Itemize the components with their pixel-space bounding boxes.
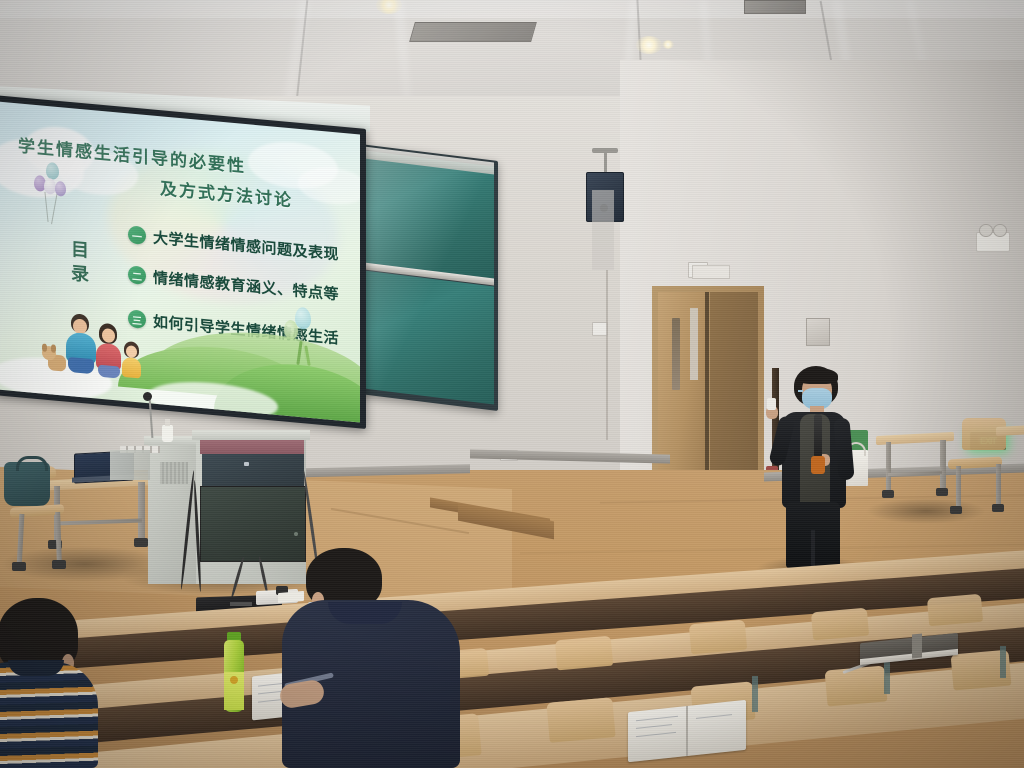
desk-caster — [134, 538, 148, 547]
podium-indicator — [244, 462, 249, 466]
ceiling-panel — [0, 0, 1024, 18]
far-right-desk-top — [996, 425, 1024, 436]
chair-caster — [992, 504, 1004, 512]
presentation-slide: 学生情感生活引导的必要性 及方式方法讨论 目 录 一 大学生情绪情感问题及表现 … — [0, 102, 360, 423]
door-sign — [692, 265, 730, 279]
bench-chair-back[interactable] — [546, 697, 615, 743]
bench-chair-leg — [752, 676, 758, 712]
equipment-case-label — [230, 602, 252, 606]
mask-strap — [798, 390, 803, 392]
slide-figure-child — [122, 341, 142, 383]
emergency-light-head — [979, 224, 993, 237]
slide-figure-adult — [66, 313, 96, 376]
student-collar — [328, 602, 402, 624]
microphone-badge — [811, 456, 825, 474]
toc-label-char1: 目 — [70, 240, 90, 261]
presenter-hair-front — [798, 368, 838, 384]
wall-switch-box[interactable] — [806, 318, 830, 346]
wall-conduit — [606, 270, 608, 440]
microphone-head — [143, 392, 152, 401]
student-collar — [8, 660, 64, 676]
slide-figure-woman — [96, 322, 122, 378]
student-left — [0, 598, 120, 768]
ceiling-vent — [409, 22, 537, 42]
podium-vent — [160, 462, 188, 484]
emergency-light-head — [993, 224, 1007, 237]
desk-leg — [940, 440, 946, 492]
handheld-microphone[interactable] — [814, 414, 822, 458]
bench-chair-back[interactable] — [689, 620, 747, 655]
chair-caster — [950, 506, 962, 514]
bag-strap — [16, 456, 48, 471]
toc-label-char2: 录 — [70, 264, 90, 285]
chair-leg — [956, 466, 961, 510]
lecture-hall-photo: 学生情感生活引导的必要性 及方式方法讨论 目 录 一 大学生情绪情感问题及表现 … — [0, 0, 1024, 768]
presenter-leg-gap — [811, 530, 815, 568]
sanitizer-pump — [165, 419, 170, 426]
chair-caster — [52, 560, 66, 569]
speaker-bracket-plate — [592, 148, 618, 153]
chair-caster — [12, 562, 26, 571]
desk-leg — [886, 442, 891, 494]
slide-figure-dog — [42, 346, 68, 376]
bench-chair-back[interactable] — [927, 594, 983, 627]
student-striped-shirt — [0, 662, 98, 768]
presenter — [752, 362, 862, 568]
speaker-wall-panel — [592, 190, 614, 270]
bench-chair-leg — [1000, 646, 1006, 678]
chair-leg — [996, 464, 1001, 508]
door-window-highlight — [690, 308, 698, 380]
notebook-spine — [686, 706, 688, 756]
ceiling-downlight — [636, 36, 662, 54]
monitor-power-led — [294, 532, 298, 536]
book-stack-divider — [912, 633, 922, 658]
desk-caster — [882, 490, 894, 498]
podium-red-panel — [200, 440, 304, 454]
desk-caster — [936, 488, 948, 496]
toc-number-3: 三 — [128, 309, 146, 329]
ceiling-vent — [744, 0, 806, 14]
clicker[interactable] — [767, 398, 776, 410]
podium-control-panel[interactable] — [202, 454, 304, 490]
ceiling-downlight — [662, 40, 674, 49]
door-window — [672, 318, 680, 390]
bench-chair-back[interactable] — [811, 608, 869, 641]
bench-chair-back[interactable] — [555, 636, 613, 671]
bench-chair-leg — [884, 660, 890, 694]
side-desk-leg — [138, 482, 145, 542]
furniture-shadow — [866, 498, 986, 524]
balloon-lilac — [55, 181, 66, 197]
podium-desktop — [192, 430, 310, 440]
sanitizer-bottle[interactable] — [162, 425, 173, 442]
bottle-label-art — [230, 676, 238, 684]
student-center — [276, 546, 476, 768]
speaker-bracket — [604, 152, 607, 174]
bench-chair-back[interactable] — [825, 665, 888, 706]
podium-side-panel — [110, 450, 150, 480]
